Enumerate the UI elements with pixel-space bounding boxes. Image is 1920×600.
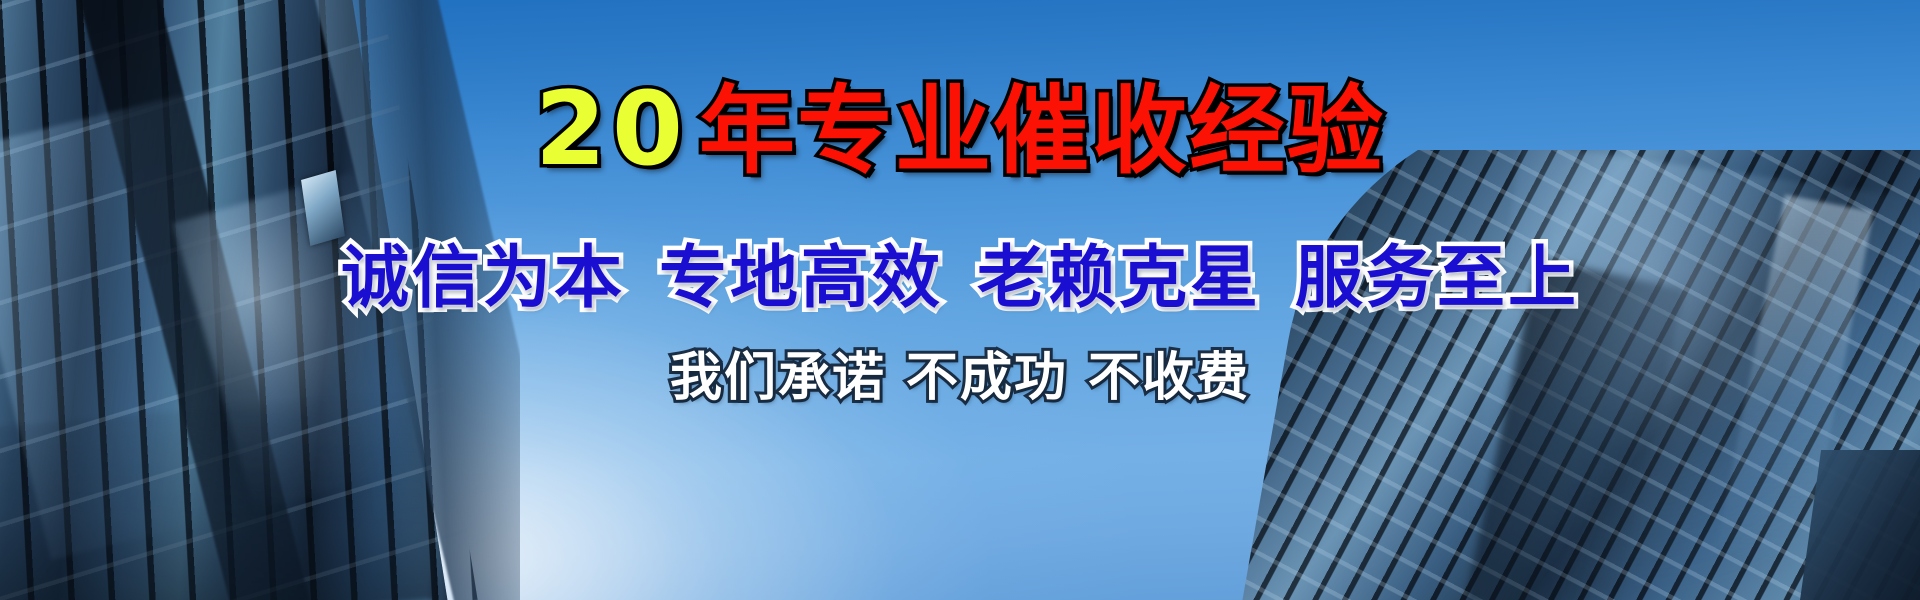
promo-banner: 20年专业催收经验 诚信为本专地高效老赖克星服务至上 我们承诺不成功不收费 bbox=[0, 0, 1920, 600]
foreground-building-sliver bbox=[1800, 450, 1920, 600]
right-curved-tower bbox=[1170, 150, 1920, 600]
left-building-shadow bbox=[0, 390, 438, 600]
left-glass-building bbox=[0, 0, 520, 600]
